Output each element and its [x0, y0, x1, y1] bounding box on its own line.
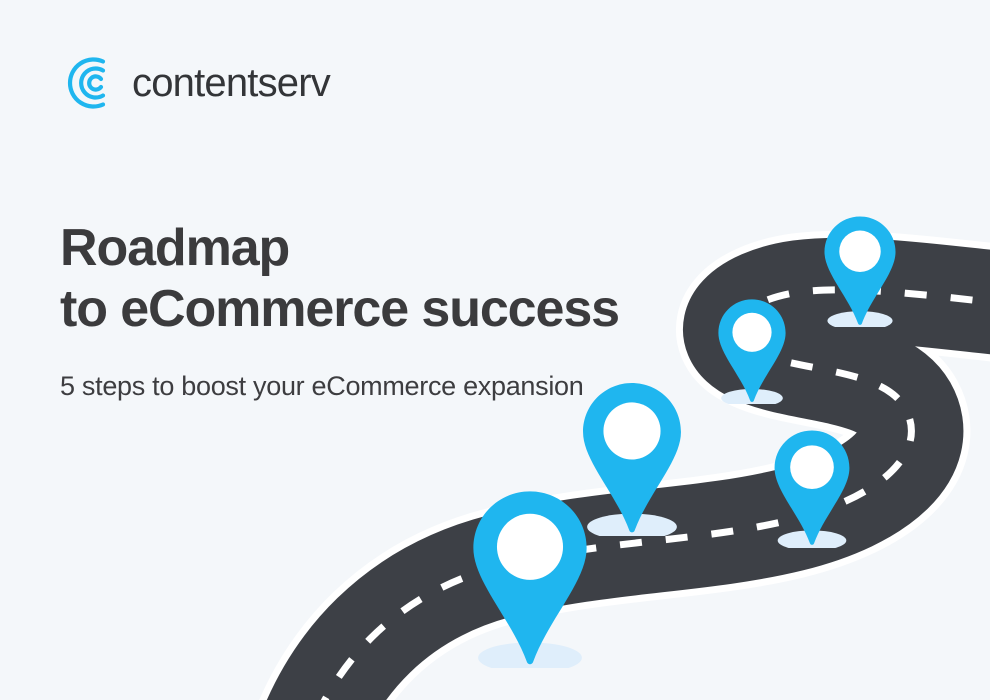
map-pin-step-4[interactable] [717, 298, 787, 404]
page-title: Roadmap to eCommerce success [60, 218, 700, 341]
map-pin-step-5[interactable] [823, 215, 897, 327]
roadmap-hero-banner: contentserv Roadmap to eCommerce success… [0, 0, 990, 700]
pin-inner-circle [497, 513, 563, 579]
map-pin-step-3[interactable] [773, 429, 851, 548]
brand-logo-lockup[interactable]: contentserv [56, 52, 330, 114]
brand-wordmark: contentserv [132, 63, 330, 103]
hero-text-block: Roadmap to eCommerce success 5 steps to … [60, 218, 700, 402]
map-pin-step-2[interactable] [581, 381, 683, 536]
pin-inner-circle [839, 230, 880, 271]
map-pin-step-1[interactable] [471, 489, 589, 668]
pin-inner-circle [732, 312, 771, 351]
contentserv-logo-icon [56, 52, 118, 114]
pin-inner-circle [790, 446, 834, 490]
pin-inner-circle [603, 402, 660, 459]
